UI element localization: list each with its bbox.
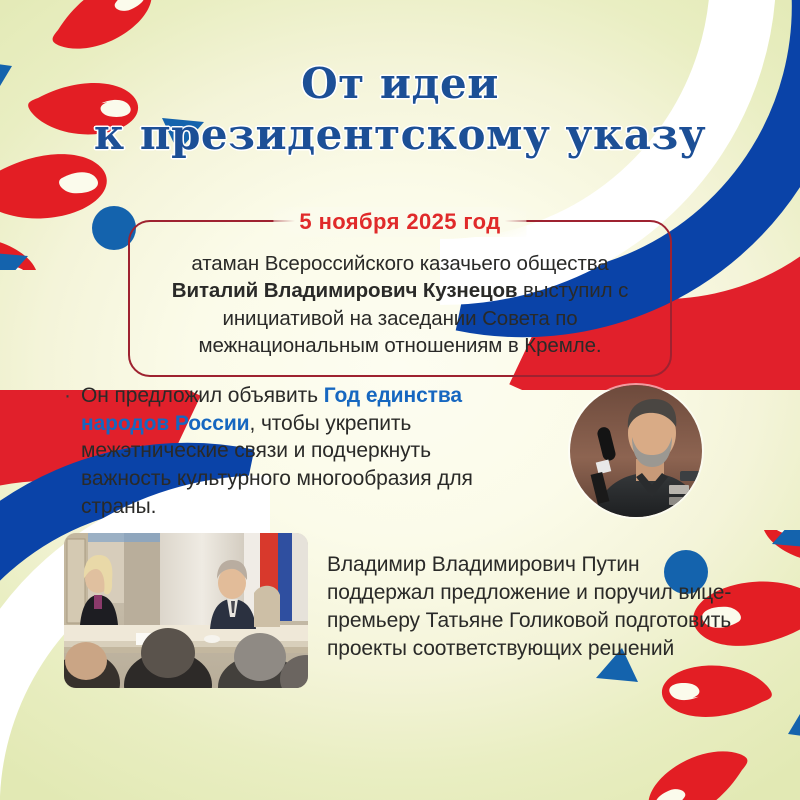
page-title: От идеи к президентскому указу: [0, 62, 800, 157]
bullet-part-1: Он предложил объявить: [81, 384, 324, 407]
meeting-illustration: [64, 533, 308, 688]
callout-part-2-bold: Виталий Владимирович Кузнецов: [172, 279, 518, 302]
callout-paragraph: атаман Всероссийского казачьего общества…: [152, 250, 648, 359]
title-line-2: к президентскому указу: [0, 113, 800, 158]
bullet-item: · Он предложил объявить Год единства нар…: [64, 382, 519, 521]
portrait-illustration: [570, 385, 702, 517]
poster-canvas: От идеи к президентскому указу 5 ноября …: [0, 0, 800, 800]
date-badge: 5 ноября 2025 год: [273, 207, 526, 237]
kremlin-meeting-photo: [64, 533, 308, 688]
bullet-marker-icon: ·: [64, 382, 81, 521]
bullet-paragraph: Он предложил объявить Год единства народ…: [81, 382, 519, 521]
callout-part-1: атаман Всероссийского казачьего общества: [191, 252, 608, 275]
callout-section: 5 ноября 2025 год атаман Всероссийского …: [128, 220, 672, 377]
ataman-portrait-photo: [570, 385, 702, 517]
callout-box: 5 ноября 2025 год атаман Всероссийского …: [128, 220, 672, 377]
bottom-paragraph: Владимир Владимирович Путин поддержал пр…: [327, 551, 737, 663]
title-line-1: От идеи: [0, 62, 800, 107]
